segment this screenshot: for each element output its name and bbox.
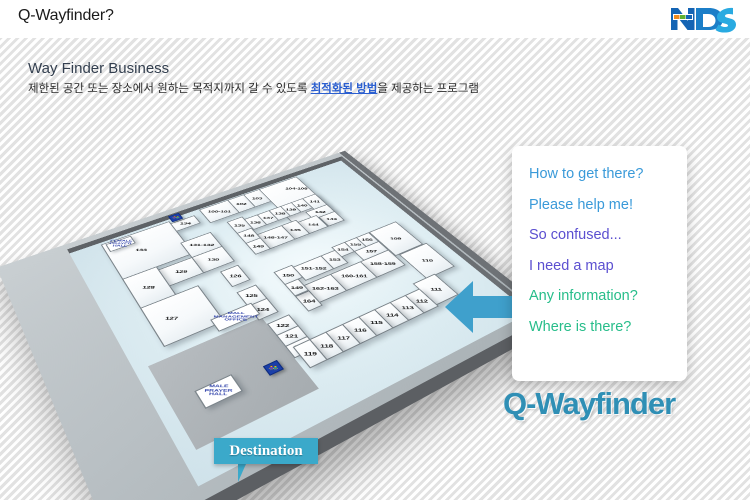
room-label: 145: [290, 228, 301, 231]
questions-list: How to get there? Please help me! So con…: [529, 166, 677, 349]
room-label: 134: [180, 222, 191, 225]
room-label: 131-132: [189, 243, 214, 247]
section-subtitle: 제한된 공간 또는 장소에서 원하는 목적지까지 갈 수 있도록 최적화된 방법…: [28, 80, 479, 96]
room-label: 126: [229, 274, 241, 278]
subtitle-post: 을 제공하는 프로그램: [377, 83, 479, 95]
destination-callout[interactable]: Destination: [214, 438, 318, 464]
subtitle-highlight: 최적화된 방법: [311, 83, 378, 95]
sign-label: FEMALE PRAYER HALL: [108, 240, 132, 248]
room-label: 128: [142, 285, 155, 289]
room-label: 104-108: [285, 187, 307, 190]
room-label: 109: [390, 236, 402, 239]
room-label: 114: [385, 313, 398, 318]
room-label: 124: [257, 307, 270, 311]
room-label: 135: [234, 223, 245, 226]
destination-label: Destination: [229, 443, 302, 460]
room-label: 112: [415, 299, 428, 303]
question-line-1: How to get there?: [529, 166, 677, 182]
room-label: 158-159: [370, 261, 396, 265]
room-label: 140: [297, 204, 308, 207]
room-label: 119: [303, 351, 316, 356]
room-label: 157: [365, 249, 377, 253]
room-label: 155: [350, 243, 362, 247]
question-line-6: Where is there?: [529, 319, 677, 335]
subtitle-pre: 제한된 공간 또는 장소에서 원하는 목적지까지 갈 수 있도록: [28, 83, 311, 95]
question-line-3: So confused...: [529, 227, 677, 243]
room-label: 118: [320, 343, 333, 348]
room-label: 102: [236, 202, 247, 205]
sign-label: MALL MANAGEMENT OFFICE: [212, 312, 257, 322]
room-label: 113: [400, 305, 413, 309]
room-label: 129: [175, 269, 187, 273]
room-label: 121: [285, 334, 298, 339]
room-label: 160-161: [340, 274, 367, 278]
sign-label: MALE PRAYER HALL: [204, 385, 233, 397]
room-label: 136: [250, 220, 261, 223]
room-label: 154: [337, 248, 349, 252]
room-label: 153: [328, 257, 340, 261]
page-title: Q-Wayfinder?: [18, 7, 114, 25]
room-label: 151-152: [301, 266, 327, 270]
room-label: 143: [326, 217, 337, 220]
room-label: 133: [135, 248, 147, 252]
nds-logo: [670, 5, 736, 33]
question-line-4: I need a map: [529, 258, 677, 274]
restroom-glyph: 👫: [268, 365, 278, 371]
room-label: 130: [207, 257, 219, 261]
room-label: 142: [315, 210, 326, 213]
room-label: 148: [243, 234, 254, 237]
room-label: 115: [369, 320, 382, 325]
room-label: 156: [362, 238, 374, 241]
room-label: 146-147: [263, 235, 287, 238]
room-label: 149: [252, 244, 263, 248]
destination-callout-tail: [238, 464, 246, 482]
room-label: 127: [165, 316, 179, 321]
room-label: 117: [336, 335, 349, 340]
floor-map[interactable]: 100-101 102 103 104-108 135 136 137 138 …: [42, 116, 512, 466]
room-label: 164: [302, 299, 315, 303]
content-stage: Way Finder Business 제한된 공간 또는 장소에서 원하는 목…: [0, 38, 750, 500]
pointer-arrow-icon: [443, 276, 521, 338]
question-line-5: Any information?: [529, 288, 677, 304]
room-label: 162-163: [312, 286, 339, 290]
room-label: 139: [286, 208, 297, 211]
room-label: 116: [353, 328, 366, 333]
room-label: 144: [307, 223, 318, 226]
question-line-2: Please help me!: [529, 197, 677, 213]
room-label: 138: [274, 212, 285, 215]
room-label: 122: [276, 323, 289, 328]
room-label: 103: [252, 197, 262, 200]
room-label: 149: [290, 285, 302, 289]
room-label: 125: [246, 293, 258, 297]
room-label: 137: [263, 216, 274, 219]
room-label: 150: [282, 273, 294, 277]
room-label: 110: [421, 259, 433, 263]
room-label: 100-101: [208, 210, 232, 213]
section-title: Way Finder Business: [28, 60, 169, 77]
page-header: Q-Wayfinder?: [0, 0, 750, 38]
room-label: 141: [309, 200, 320, 203]
restroom-glyph: 👫: [171, 216, 179, 219]
room-label: 111: [429, 287, 441, 291]
questions-card: How to get there? Please help me! So con…: [512, 146, 687, 381]
brand-wordmark: Q-Wayfinder: [503, 386, 675, 422]
